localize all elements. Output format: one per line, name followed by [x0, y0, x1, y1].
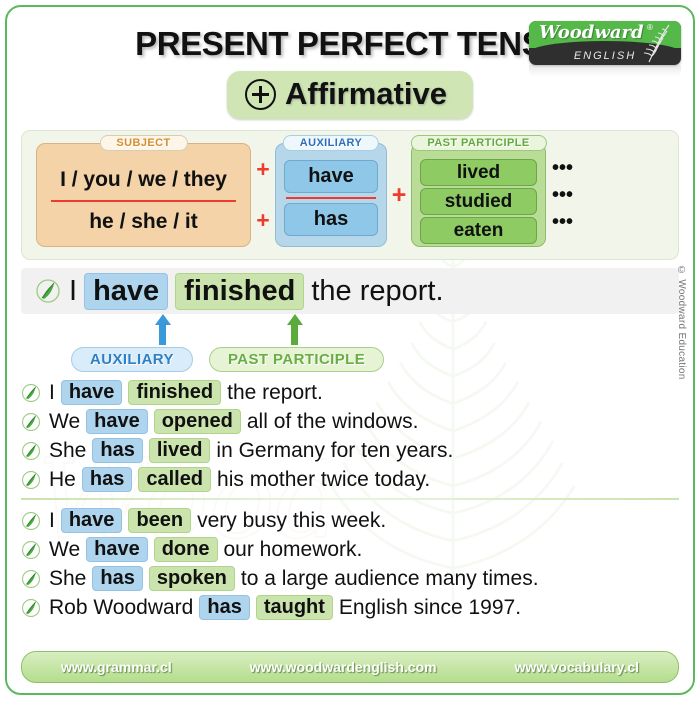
arrow-up-participle: [287, 314, 301, 345]
fern-icon: [641, 23, 675, 63]
sentence-participle: lived: [149, 438, 211, 463]
sentence-participle: called: [138, 467, 211, 492]
fern-bullet-icon: [21, 569, 41, 589]
footer-link-grammar[interactable]: www.grammar.cl: [61, 659, 172, 675]
sentence-post: to a large audience many times.: [241, 567, 539, 591]
sentence-post: his mother twice today.: [217, 468, 430, 492]
sentence-auxiliary: has: [92, 438, 142, 463]
list-item: We have opened all of the windows.: [21, 407, 679, 436]
participle-ellipsis-group: ••• ••• •••: [546, 149, 586, 241]
auxiliary-has: has: [284, 203, 378, 236]
past-participle-column: PAST PARTICIPLE lived studied eaten: [411, 143, 546, 247]
footer-link-woodwardenglish[interactable]: www.woodwardenglish.com: [250, 659, 437, 675]
participle-item: eaten: [420, 217, 537, 244]
sentence-auxiliary: has: [82, 467, 132, 492]
plus-circle-icon: [245, 79, 276, 110]
subject-column: SUBJECT I / you / we / they he / she / i…: [36, 143, 251, 247]
example-auxiliary: have: [84, 273, 168, 310]
logo-wordmark: Woodward: [539, 22, 644, 43]
sentence-list: I have finished the report. We have open…: [21, 378, 679, 622]
sentence-participle: taught: [256, 595, 333, 620]
fern-bullet-icon: [21, 470, 41, 490]
sentence-auxiliary: has: [92, 566, 142, 591]
plus-sign: +: [251, 207, 275, 234]
sentence-pre: Rob Woodward: [49, 596, 193, 620]
sentence-auxiliary: have: [61, 380, 123, 405]
list-divider: [21, 498, 679, 500]
copyright-notice: © Woodward Education: [676, 265, 687, 380]
plus-sign-aux-participle: +: [387, 181, 411, 210]
subject-label: SUBJECT: [99, 135, 187, 151]
example-sentence: I have finished the report.: [21, 268, 679, 314]
sentence-auxiliary: have: [86, 409, 148, 434]
sentence-participle: been: [128, 508, 191, 533]
sentence-pre: She: [49, 439, 86, 463]
example-post: the report.: [311, 275, 443, 308]
auxiliary-divider: [286, 197, 376, 199]
arrow-up-auxiliary: [155, 314, 169, 345]
affirmative-badge: Affirmative: [227, 71, 473, 119]
list-item: Rob Woodward has taught English since 19…: [21, 593, 679, 622]
affirmative-label: Affirmative: [285, 76, 447, 111]
list-item: She has lived in Germany for ten years.: [21, 436, 679, 465]
participle-item: studied: [420, 188, 537, 215]
sentence-participle: finished: [128, 380, 221, 405]
structure-panel: SUBJECT I / you / we / they he / she / i…: [21, 130, 679, 260]
woodward-logo[interactable]: Woodward ® ENGLISH: [529, 21, 681, 65]
fern-bullet-icon: [21, 598, 41, 618]
plus-signs-subject-aux: + +: [251, 156, 275, 234]
sentence-pre: We: [49, 538, 80, 562]
auxiliary-label: AUXILIARY: [283, 135, 379, 151]
sentence-pre: He: [49, 468, 76, 492]
list-item: I have finished the report.: [21, 378, 679, 407]
sentence-pre: I: [49, 381, 55, 405]
example-pre: I: [69, 275, 77, 308]
sentence-post: the report.: [227, 381, 323, 405]
sentence-auxiliary: has: [199, 595, 249, 620]
fern-bullet-icon: [21, 412, 41, 432]
logo-reflection: [529, 65, 681, 77]
sentence-pre: We: [49, 410, 80, 434]
ellipsis: •••: [552, 209, 586, 236]
example-participle: finished: [175, 273, 304, 310]
fern-bullet-icon: [21, 540, 41, 560]
footer-link-vocabulary[interactable]: www.vocabulary.cl: [515, 659, 640, 675]
tag-auxiliary: AUXILIARY: [71, 347, 193, 372]
tag-past-participle: PAST PARTICIPLE: [209, 347, 384, 372]
fern-bullet-icon: [35, 278, 61, 304]
footer-links-bar: www.grammar.cl www.woodwardenglish.com w…: [21, 651, 679, 683]
sentence-post: in Germany for ten years.: [216, 439, 453, 463]
sentence-post: English since 1997.: [339, 596, 521, 620]
subject-row-singular: he / she / it: [37, 202, 250, 242]
auxiliary-column: AUXILIARY have has: [275, 143, 387, 247]
auxiliary-have: have: [284, 160, 378, 193]
list-item: He has called his mother twice today.: [21, 465, 679, 494]
fern-bullet-icon: [21, 511, 41, 531]
past-participle-label: PAST PARTICIPLE: [410, 135, 546, 151]
participle-item: lived: [420, 159, 537, 186]
list-item: I have been very busy this week.: [21, 506, 679, 535]
sentence-participle: done: [154, 537, 218, 562]
ellipsis: •••: [552, 155, 586, 182]
list-item: She has spoken to a large audience many …: [21, 564, 679, 593]
sentence-pre: She: [49, 567, 86, 591]
list-item: We have done our homework.: [21, 535, 679, 564]
sentence-pre: I: [49, 509, 55, 533]
header: PRESENT PERFECT TENSE Woodward ® ENGLISH: [7, 7, 693, 73]
sentence-participle: opened: [154, 409, 241, 434]
sentence-post: our homework.: [224, 538, 363, 562]
subject-row-plural: I / you / we / they: [37, 160, 250, 200]
sentence-post: all of the windows.: [247, 410, 419, 434]
fern-bullet-icon: [21, 383, 41, 403]
callout-row: AUXILIARY PAST PARTICIPLE: [21, 314, 679, 374]
affirmative-badge-wrap: Affirmative: [7, 71, 693, 119]
sentence-post: very busy this week.: [197, 509, 386, 533]
infographic-card: Wood PRESENT PERFECT TENSE Woodward ® EN…: [5, 5, 695, 695]
sentence-auxiliary: have: [86, 537, 148, 562]
plus-sign: +: [251, 156, 275, 183]
fern-bullet-icon: [21, 441, 41, 461]
ellipsis: •••: [552, 182, 586, 209]
sentence-participle: spoken: [149, 566, 235, 591]
sentence-auxiliary: have: [61, 508, 123, 533]
